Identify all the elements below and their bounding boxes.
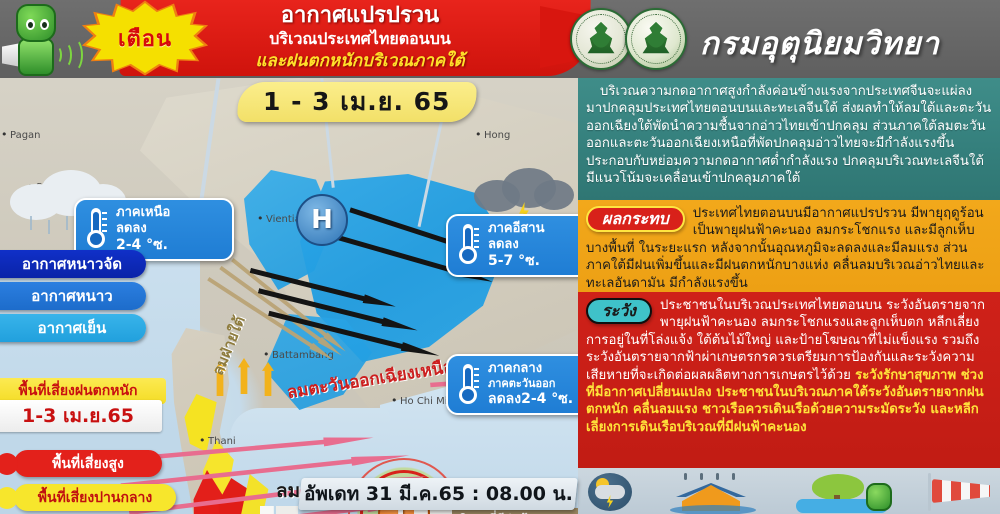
warning-badge-label: เตือน <box>86 3 204 73</box>
temp-box-value: 5-7 °ซ. <box>488 253 578 270</box>
high-pressure-marker: H <box>296 194 348 246</box>
summary-section: บริเวณความกดอากาศสูงกำลังค่อนข้างแรงจากป… <box>578 78 1000 200</box>
caution-tag: ระวัง <box>586 298 652 324</box>
city-label: Thani <box>208 436 236 447</box>
header-title-line1: อากาศแปรปรวน <box>150 3 570 28</box>
temp-box-northeast: ภาคอีสาน ลดลง 5-7 °ซ. <box>446 214 578 277</box>
city-label: Pagan <box>10 130 41 141</box>
header-title-line3: และฝนตกหนักบริเวณภาคใต้ <box>150 50 570 72</box>
cold-legend-item-cool: อากาศเย็น <box>0 314 146 342</box>
mascot-eye <box>40 19 49 30</box>
weather-map: H L ลมตะวันออกเฉียงเหนือ ลมตะวันออก ลมฝ่… <box>0 78 578 514</box>
hazard-icon-strip <box>578 468 1000 514</box>
mascot-body <box>18 38 54 76</box>
update-timestamp: อัพเดท 31 มี.ค.65 : 08.00 น. <box>298 478 577 510</box>
risk-legend-item-moderate: พื้นที่เสี่ยงปานกลาง <box>14 484 176 511</box>
thermometer-icon <box>456 364 480 404</box>
south-wind-arrow <box>238 358 250 394</box>
date-banner-text: 1 - 3 เม.ย. 65 <box>263 82 450 122</box>
cold-legend-item-severe: อากาศหนาวจัด <box>0 250 146 278</box>
impact-tag: ผลกระทบ <box>586 206 685 232</box>
department-emblem-icon <box>625 8 687 70</box>
update-timestamp-text: อัพเดท 31 มี.ค.65 : 08.00 น. <box>304 479 573 509</box>
temp-box-region: ภาคกลาง <box>488 361 578 377</box>
city-label: Hong <box>484 130 510 141</box>
megaphone-robot-icon <box>2 2 94 78</box>
header-title-line2: บริเวณประเทศไทยตอนบน <box>150 28 570 50</box>
warning-starburst-badge: เตือน <box>86 3 204 73</box>
mascot-eye <box>26 19 35 30</box>
sound-wave-icon <box>65 38 83 72</box>
temp-box-region: ภาคเหนือ <box>116 205 222 221</box>
temp-box-subregion: ภาคตะวันออก <box>488 377 578 391</box>
thermometer-icon <box>456 224 480 264</box>
header-title-block: อากาศแปรปรวน บริเวณประเทศไทยตอนบน และฝนต… <box>150 3 570 72</box>
temp-box-region: ภาคอีสาน <box>488 221 578 237</box>
temp-box-change: ลดลง <box>488 237 578 253</box>
risk-legend-item-high: พื้นที่เสี่ยงสูง <box>14 450 162 477</box>
department-emblem-icon <box>570 8 632 70</box>
summary-text: บริเวณความกดอากาศสูงกำลังค่อนข้างแรงจากป… <box>586 83 992 187</box>
thunderstorm-cloud-icon <box>470 162 578 218</box>
thermometer-icon <box>84 208 108 248</box>
windsock-icon <box>924 473 1000 509</box>
date-banner: 1 - 3 เม.ย. 65 <box>237 82 477 122</box>
header-bar: อากาศแปรปรวน บริเวณประเทศไทยตอนบน และฝนต… <box>0 0 1000 78</box>
temp-box-value: ลดลง2-4 °ซ. <box>488 391 578 408</box>
info-panel: บริเวณความกดอากาศสูงกำลังค่อนข้างแรงจากป… <box>578 78 1000 514</box>
cold-legend-item-cold: อากาศหนาว <box>0 282 146 310</box>
thunderstorm-icon <box>588 473 632 511</box>
flooded-tree-icon <box>790 473 890 509</box>
department-name: กรมอุตุนิยมวิทยา <box>700 18 940 68</box>
mascot-head <box>16 4 56 42</box>
temp-box-central-east: ภาคกลาง ภาคตะวันออก ลดลง2-4 °ซ. <box>446 354 578 415</box>
caution-section: ระวัง ประชาชนในบริเวณประเทศไทยตอนบน ระวั… <box>578 292 1000 468</box>
infographic-root: อากาศแปรปรวน บริเวณประเทศไทยตอนบน และฝนต… <box>0 0 1000 514</box>
temp-box-change: ลดลง <box>116 221 222 237</box>
impact-section: ผลกระทบ ประเทศไทยตอนบนมีอากาศแปรปรวน มีพ… <box>578 200 1000 292</box>
risk-legend-date: 1-3 เม.ย.65 <box>0 400 162 432</box>
boat-icon <box>248 508 304 514</box>
flooded-house-icon <box>670 473 756 509</box>
